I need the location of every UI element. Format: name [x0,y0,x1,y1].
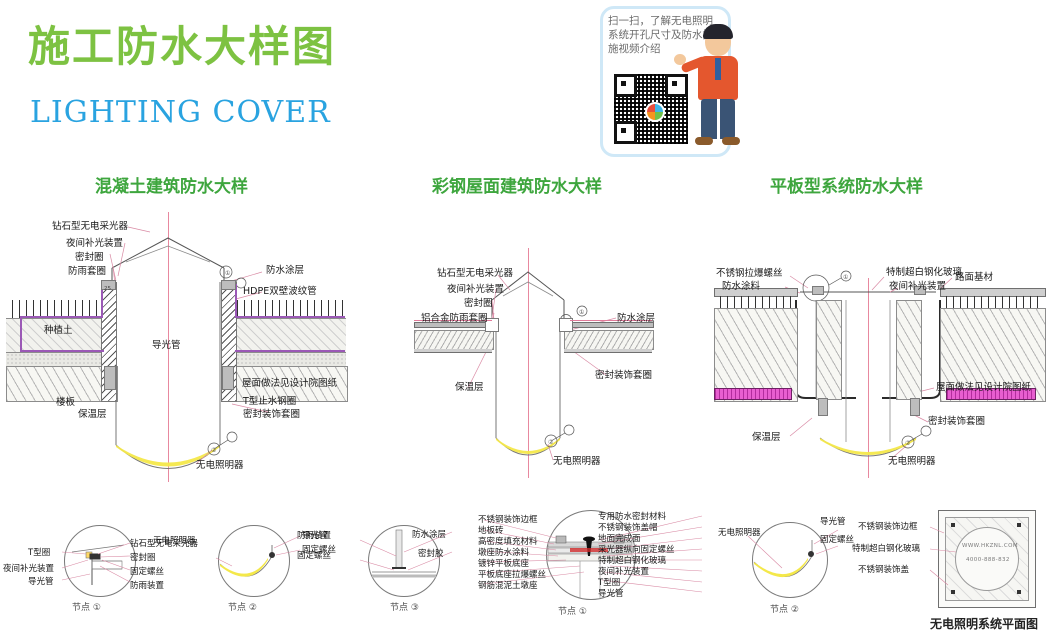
d3-insulation-left [714,388,792,400]
d3-label-lamp: 无电照明器 [888,456,936,468]
d1-waterstop-ring-left [104,366,116,390]
d3-label-night-light: 夜间补光装置 [889,281,946,293]
d1-membrane-mid-right [235,350,345,352]
plan-label-glass: 特制超白钢化玻璃 [852,543,920,555]
d2-liner-right [564,349,652,353]
d2-label-night-light: 夜间补光装置 [447,284,504,296]
d2-label-seal-trim: 密封装饰套圈 [595,370,652,382]
detail-3-caption: 节点 ③ [390,600,419,613]
d2-liner-left [414,349,492,353]
d1-label-planting-soil: 种植土 [44,325,73,337]
page-title-en: LIGHTING COVER [30,95,331,130]
plan-bolt-tl [951,523,955,527]
d2-label-waterproof: 防水涂层 [617,313,655,325]
d2-label-seal-ring: 密封圈 [464,298,493,310]
d3-shaft-wall-left [816,300,842,400]
d3-label-anchor-bolt: 不锈钢拉爆螺丝 [716,268,783,280]
detail-3-label-rain-guard: 防雨装置 [297,530,331,542]
plan-stamp-url: WWW.HKZNL.COM [962,543,1018,549]
page-title-cn: 施工防水大样图 [28,22,336,72]
d1-rain-collar-right [221,280,236,290]
d3-base-hatch-left [714,296,796,308]
qr-eye-tr [665,74,688,97]
d2-callout-2: ② [548,437,553,449]
d3-label-roof-note: 屋面做法见设计院图纸 [936,382,1031,394]
section-heading-2: 彩钢屋面建筑防水大样 [432,172,602,197]
d1-label-seal-trim: 密封装饰套圈 [243,409,300,421]
detail-1-label-rain-guard: 防雨装置 [130,580,164,592]
d1-membrane-up-left [20,316,22,352]
detail-4-label-light-tube: 导光管 [598,588,624,600]
d2-label-insulation: 保温层 [455,382,484,394]
plan-label-ss-frame: 不锈钢装饰边框 [858,521,918,533]
d2-insulation-left [414,330,494,350]
plan-bolt-bl [951,590,955,594]
d1-label-roof-note: 屋面做法见设计院图纸 [242,378,337,390]
d2-callout-1: ① [579,307,584,319]
detail-4-caption: 节点 ① [558,604,587,617]
detail-4-label-rc-base: 钢筋混泥土墩座 [478,580,538,592]
detail-3-label-screw: 固定螺丝 [297,550,331,562]
detail-5-label-lamp: 无电照明器 [718,527,761,539]
d3-label-waterproof: 防水涂料 [722,281,760,293]
d3-label-pavement: 路面基材 [955,272,993,284]
detail-2-circle [218,525,290,597]
d2-insulation-right [564,330,654,350]
d1-membrane-top-right [235,316,345,318]
d3-seal-trim-right [910,398,920,416]
d1-label-lamp: 无电照明器 [196,460,244,472]
d1-label-light-tube: 导光管 [152,340,181,352]
d3-label-glass: 特制超白钢化玻璃 [886,267,962,279]
plan-bolt-br [1017,590,1021,594]
plan-caption: 无电照明系统平面图 [930,615,1038,632]
d1-label-skylight: 钻石型无电采光器 [52,221,128,233]
d2-centerline [528,248,529,478]
d1-label-floor-slab: 楼板 [56,397,75,409]
d1-label-waterstop: T型止水钢圈 [243,396,296,408]
d3-base-hatch-right [940,296,1044,308]
detail-1-label-night-light: 夜间补光装置 [3,563,54,575]
d3-shaft-wall-right [896,300,922,400]
detail-1-label-screw: 固定螺丝 [130,566,164,578]
detail-2-caption: 节点 ② [228,600,257,613]
drawing-sheet: 施工防水大样图 LIGHTING COVER 扫一扫，了解无电照明系统开孔尺寸及… [0,0,1048,639]
d2-label-skylight: 钻石型无电采光器 [437,268,513,280]
d3-callout-2: ② [905,438,910,450]
plan-label-ss-cap: 不锈钢装饰盖 [858,564,909,576]
detail-3-label-waterproof: 防水涂层 [412,529,446,541]
d1-planting-soil-right [224,318,346,354]
detail-1-caption: 节点 ① [72,600,101,613]
detail-5-label-screw: 固定螺丝 [820,534,854,546]
d1-waterstop-ring-right [222,366,234,390]
plan-bolt-tr [1017,523,1021,527]
d1-label-rain-collar: 防雨套圈 [68,266,106,278]
detail-5-label-light-tube: 导光管 [820,516,846,528]
qr-eye-bl [614,121,637,144]
d1-membrane-top-left [20,316,102,318]
d1-label-waterproof: 防水涂层 [266,265,304,277]
d1-label-night-light: 夜间补光装置 [66,238,123,250]
d3-seal-trim-left [818,398,828,416]
detail-5-caption: 节点 ② [770,602,799,615]
d1-label-insulation: 保温层 [78,409,107,421]
section-heading-3: 平板型系统防水大样 [770,172,923,197]
d1-callout-1: ① [225,268,230,280]
d3-label-seal-trim: 密封装饰套圈 [928,416,985,428]
qr-eye-tl [614,74,637,97]
d3-label-insulation: 保温层 [752,432,781,444]
detail-1-label-t-ring: T型圈 [28,547,50,559]
d1-label-seal-ring: 密封圈 [75,252,104,264]
detail-2-label-lamp: 无电照明器 [153,535,196,547]
qr-logo-icon [645,102,665,122]
plan-stamp-tel: 4000-888-832 [966,557,1010,563]
detail-3-label-sealant: 密封胶 [418,548,444,560]
d1-callout-2: ② [211,445,216,457]
d3-centerline [868,278,869,478]
presenter-illustration [690,20,748,148]
d2-label-lamp: 无电照明器 [553,456,601,468]
d3-frame-left [812,286,824,295]
detail-1-label-light-tube: 导光管 [28,576,54,588]
detail-1-circle [64,525,136,597]
d1-membrane-mid-left [20,350,104,352]
d1-label-hdpe: HDPE双壁波纹管 [243,286,317,298]
detail-5-circle [752,522,828,598]
d2-label-alu-collar: 铝合金防雨套圈 [421,313,488,325]
detail-1-label-seal-ring: 密封圈 [130,552,156,564]
d3-callout-1: ① [843,272,848,284]
d1-dimension: 25 [104,283,111,295]
section-heading-1: 混凝土建筑防水大样 [95,172,248,197]
